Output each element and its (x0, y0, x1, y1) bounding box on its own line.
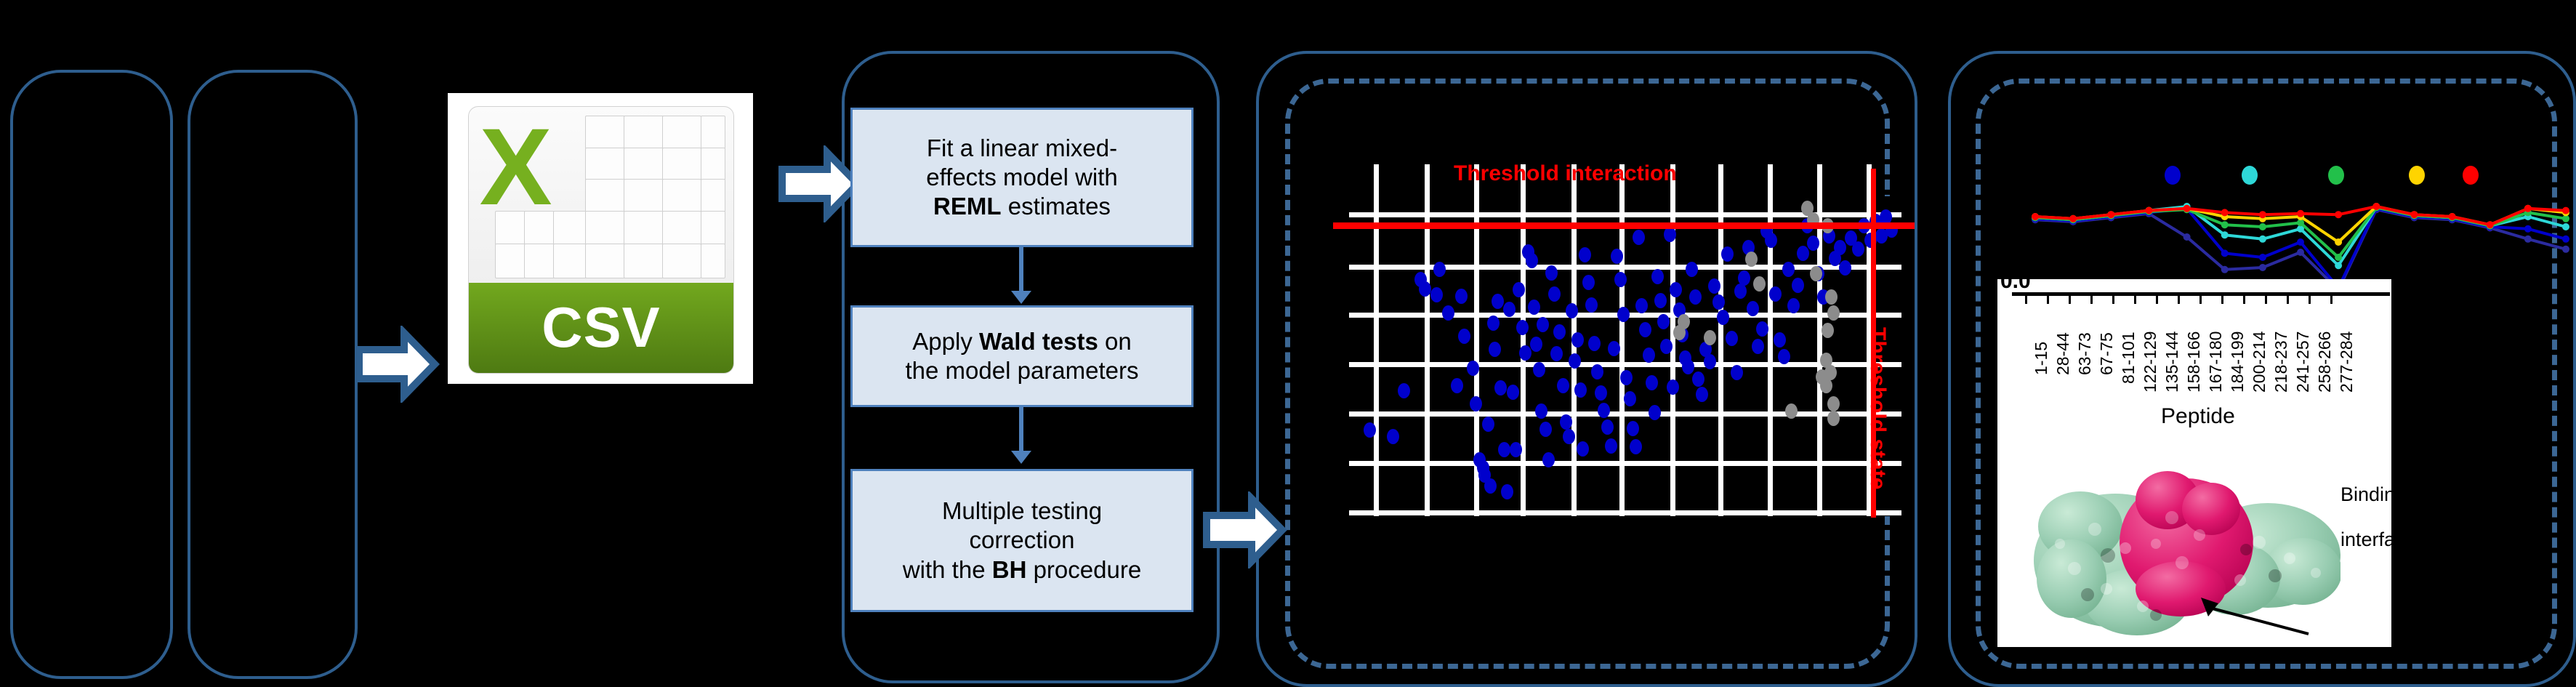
scatter-point (1528, 300, 1540, 315)
scatter-point (1734, 284, 1747, 299)
chart-data-point (2562, 223, 2569, 230)
scatter-point (1510, 442, 1522, 457)
scatter-point (1738, 270, 1750, 286)
axis-tick (2090, 292, 2093, 304)
scatter-point (1627, 421, 1639, 436)
x-tick-label: 67-75 (2097, 332, 2117, 375)
chart-data-point (2259, 254, 2266, 261)
scatter-point (1635, 298, 1648, 313)
scatter-point (1630, 439, 1642, 454)
scatter-point-grey (1673, 325, 1686, 340)
scatter-point (1696, 387, 1708, 402)
axis-tick (2047, 292, 2049, 304)
x-tick-label: 122-129 (2141, 332, 2160, 393)
chart-data-point (2259, 211, 2266, 218)
scatter-point-grey (1810, 266, 1822, 281)
scatter-point-grey (1820, 378, 1832, 393)
scatter-point-grey (1827, 411, 1840, 426)
x-tick-label: 1-15 (2032, 342, 2051, 375)
scatter-point (1533, 362, 1545, 377)
chart-data-point (2297, 238, 2304, 246)
scatter-point (1660, 339, 1673, 354)
scatter-point (1484, 478, 1497, 494)
axis-tick (2069, 292, 2071, 304)
step-wald-text: Apply Wald tests onthe model parameters (906, 327, 1139, 386)
connector-model-to-wald (1019, 247, 1023, 297)
scatter-point (1419, 281, 1431, 297)
scatter-point (1664, 227, 1676, 242)
scatter-point (1591, 364, 1603, 379)
chart-data-point (2335, 254, 2342, 261)
chart-data-point (2449, 213, 2456, 220)
scatter-point (1654, 293, 1667, 308)
grid-line-v (1425, 164, 1430, 516)
chart-data-point (2410, 211, 2418, 218)
scatter-point (1778, 349, 1790, 364)
step-model-box[interactable]: Fit a linear mixed-effects model withREM… (850, 108, 1194, 247)
scatter-point (1513, 282, 1525, 297)
step-bh-text: Multiple testingcorrectionwith the BH pr… (903, 497, 1141, 584)
y-axis-tick-label: 0.0 (2000, 269, 2031, 294)
scatter-point (1498, 442, 1510, 457)
scatter-point (1539, 422, 1552, 437)
scatter-point (1747, 301, 1759, 316)
grid-line-v (1670, 164, 1675, 516)
scatter-point (1560, 414, 1572, 430)
chart-data-point (2259, 264, 2266, 271)
x-tick-label: 241-257 (2293, 332, 2313, 393)
x-tick-label: 218-237 (2271, 332, 2291, 393)
scatter-point (1595, 385, 1607, 401)
chart-data-point (2335, 262, 2342, 269)
csv-label-band: CSV (469, 283, 733, 373)
chart-data-point (2297, 210, 2304, 217)
axis-tick (2025, 292, 2027, 304)
scatter-point (1617, 307, 1630, 322)
axis-tick (2243, 292, 2245, 304)
connector-model-to-wald-arrowhead (1011, 291, 1031, 304)
legend-dot-state-1 (2165, 166, 2181, 185)
scatter-point (1651, 269, 1664, 284)
scatter-point (1526, 253, 1538, 268)
scatter-point (1726, 331, 1738, 346)
scatter-point (1797, 246, 1809, 261)
chart-data-point (2221, 221, 2229, 228)
scatter-point (1765, 233, 1777, 248)
chart-data-point (2335, 238, 2342, 246)
grid-line-v (1718, 164, 1723, 516)
axis-tick (2221, 292, 2223, 304)
grid-line-v (1768, 164, 1773, 516)
arrow-stats-to-volcano (1201, 491, 1288, 569)
chart-data-point (2221, 266, 2229, 273)
scatter-point-grey (1745, 252, 1758, 267)
step-bh-box[interactable]: Multiple testingcorrectionwith the BH pr… (850, 469, 1194, 612)
x-tick-label: 277-284 (2337, 332, 2356, 393)
chart-data-point (2183, 205, 2191, 212)
scatter-point (1458, 329, 1470, 344)
scatter-point-grey (1704, 330, 1716, 345)
scatter-point (1731, 365, 1743, 380)
scatter-point (1633, 230, 1645, 245)
scatter-point (1708, 278, 1720, 294)
scatter-point (1608, 341, 1620, 356)
chart-data-point (2032, 213, 2039, 220)
axis-tick (2287, 292, 2289, 304)
scatter-point (1553, 324, 1566, 340)
chart-data-point (2145, 207, 2152, 214)
scatter-point (1482, 417, 1494, 432)
legend-dot-state-4 (2409, 166, 2425, 185)
scatter-point (1433, 262, 1446, 277)
scatter-point (1704, 354, 1716, 369)
scatter-point (1537, 317, 1549, 332)
scatter-point (1387, 429, 1399, 444)
x-tick-label: 200-214 (2250, 332, 2269, 393)
scatter-point (1455, 289, 1468, 304)
scatter-point (1585, 297, 1598, 313)
x-tick-label: 28-44 (2053, 332, 2073, 375)
input-panel (10, 70, 173, 679)
scatter-point (1624, 391, 1636, 406)
scatter-point (1467, 361, 1479, 376)
scatter-point (1582, 275, 1595, 290)
step-wald-box[interactable]: Apply Wald tests onthe model parameters (850, 305, 1194, 407)
chart-data-point (2524, 236, 2532, 243)
scatter-point (1492, 294, 1504, 309)
scatter-point (1569, 353, 1581, 369)
scatter-point (1752, 339, 1764, 354)
scatter-point (1557, 378, 1569, 393)
chart-data-point (2221, 231, 2229, 238)
scatter-point (1548, 286, 1561, 302)
scatter-point-grey (1822, 323, 1834, 338)
scatter-point (1639, 322, 1651, 337)
scatter-point (1598, 403, 1610, 418)
binding-interface-line-2: interface (2340, 529, 2416, 551)
chart-data-point (2524, 225, 2532, 233)
scatter-point (1787, 298, 1800, 313)
chart-data-point (2524, 205, 2532, 212)
scatter-point (1507, 385, 1519, 400)
scatter-point (1657, 314, 1670, 329)
csv-file-card: X CSV (448, 93, 753, 384)
binding-interface-annotation: Binding interface (2340, 461, 2416, 574)
scatter-point (1577, 441, 1589, 457)
scatter-point (1501, 484, 1513, 499)
volcano-plot (1349, 196, 1901, 516)
scatter-point (1667, 379, 1679, 395)
scatter-point (1614, 272, 1627, 287)
axis-tick (2134, 292, 2136, 304)
scatter-point-grey (1827, 396, 1840, 411)
x-tick-label: 167-180 (2206, 332, 2226, 393)
axis-tick (2330, 292, 2333, 304)
x-tick-label: 135-144 (2162, 332, 2182, 393)
chart-data-point (2562, 246, 2569, 253)
scatter-point (1574, 382, 1587, 398)
scatter-point (1792, 278, 1804, 293)
scatter-point (1451, 378, 1463, 393)
scatter-point (1571, 332, 1584, 347)
scatter-point (1682, 359, 1694, 374)
scatter-point (1535, 403, 1547, 419)
axis-tick (2156, 292, 2158, 304)
scatter-point-grey (1785, 403, 1798, 419)
x-axis-title: Peptide (2161, 404, 2235, 429)
scatter-point (1689, 289, 1702, 305)
x-tick-label: 184-199 (2228, 332, 2247, 393)
chart-data-point (2221, 209, 2229, 216)
scatter-point (1550, 346, 1563, 361)
scatter-point (1364, 422, 1376, 438)
scatter-point (1398, 383, 1410, 398)
threshold-interaction-line (1333, 222, 1915, 229)
excel-x-glyph: X (480, 112, 575, 229)
csv-panel (188, 70, 358, 679)
scatter-point (1545, 265, 1558, 281)
structure-figure: 1-15 28-44 63-73 67-75 81-101 122-129 13… (1997, 279, 2391, 647)
chart-data-point (2335, 211, 2342, 218)
scatter-point-grey (1825, 289, 1838, 305)
scatter-point (1588, 336, 1601, 351)
x-tick-label: 81-101 (2119, 332, 2138, 384)
axis-tick (2309, 292, 2311, 304)
protein-structure-render (2028, 433, 2340, 638)
axis-tick (2199, 292, 2202, 304)
chart-data-point (2297, 249, 2304, 256)
scatter-point (1579, 247, 1591, 262)
threshold-state-label: Threshold state (1865, 327, 1890, 489)
scatter-point (1566, 303, 1578, 318)
scatter-point (1769, 286, 1782, 302)
scatter-point (1852, 241, 1864, 257)
chart-data-point (2183, 233, 2191, 241)
scatter-point (1470, 396, 1482, 411)
grid-line-v (1521, 164, 1526, 516)
scatter-point (1542, 452, 1555, 467)
csv-label: CSV (542, 294, 660, 361)
grid-line-v (1374, 164, 1379, 516)
scatter-point (1721, 246, 1734, 262)
scatter-point (1717, 310, 1729, 325)
grid-line-v (1619, 164, 1625, 516)
axis-tick (2178, 292, 2180, 304)
csv-file-icon: X CSV (468, 106, 734, 374)
chart-data-point (2562, 236, 2569, 243)
scatter-point-grey (1753, 276, 1766, 292)
scatter-point (1494, 380, 1507, 395)
chart-data-point (2221, 249, 2229, 257)
scatter-point (1643, 347, 1655, 363)
chart-data-point (2259, 223, 2266, 230)
connector-wald-to-bh (1019, 407, 1023, 457)
scatter-point (1646, 375, 1658, 390)
diagram-canvas: X CSV Fit a linear mixed-effects model w… (0, 0, 2576, 687)
scatter-point (1503, 302, 1516, 317)
scatter-point (1839, 260, 1851, 276)
legend-dot-state-3 (2328, 166, 2344, 185)
scatter-point (1563, 429, 1575, 444)
x-tick-label: 63-73 (2075, 332, 2095, 375)
step-model-text: Fit a linear mixed-effects model withREM… (926, 134, 1118, 222)
scatter-point (1649, 405, 1661, 420)
scatter-point (1601, 419, 1614, 435)
connector-wald-to-bh-arrowhead (1011, 451, 1031, 464)
scatter-point (1712, 294, 1725, 310)
scatter-point (1834, 240, 1846, 255)
scatter-point (1487, 316, 1500, 331)
arrow-input-to-csv (353, 326, 440, 403)
scatter-point (1519, 345, 1531, 361)
scatter-point (1442, 305, 1454, 321)
x-tick-label: 258-266 (2315, 332, 2335, 393)
scatter-point (1620, 370, 1633, 385)
scatter-point (1686, 262, 1698, 277)
axis-tick (2265, 292, 2267, 304)
scatter-point (1782, 262, 1795, 277)
scatter-point-grey (1827, 305, 1840, 321)
legend-dot-state-5 (2463, 166, 2479, 185)
axis-tick (2112, 292, 2114, 304)
chart-data-point (2107, 211, 2114, 218)
scatter-point (1756, 321, 1768, 337)
scatter-point (1692, 371, 1704, 387)
scatter-point (1530, 337, 1542, 352)
scatter-point (1611, 249, 1623, 264)
scatter-point (1774, 332, 1786, 347)
binding-interface-line-1: Binding (2340, 483, 2416, 506)
chart-data-point (2372, 203, 2380, 210)
scatter-point (1807, 236, 1819, 251)
scatter-point (1670, 282, 1682, 297)
chart-data-point (2562, 207, 2569, 214)
chart-data-point (2259, 236, 2266, 243)
x-tick-label: 158-166 (2184, 332, 2204, 393)
scatter-point (1516, 320, 1529, 335)
scatter-point (1605, 438, 1617, 454)
scatter-point (1430, 287, 1443, 302)
chart-data-point (2069, 215, 2077, 222)
scatter-point (1489, 342, 1501, 357)
threshold-interaction-label: Threshold interaction (1454, 161, 1677, 186)
legend-dot-state-2 (2242, 166, 2258, 185)
chart-data-point (2487, 221, 2494, 228)
